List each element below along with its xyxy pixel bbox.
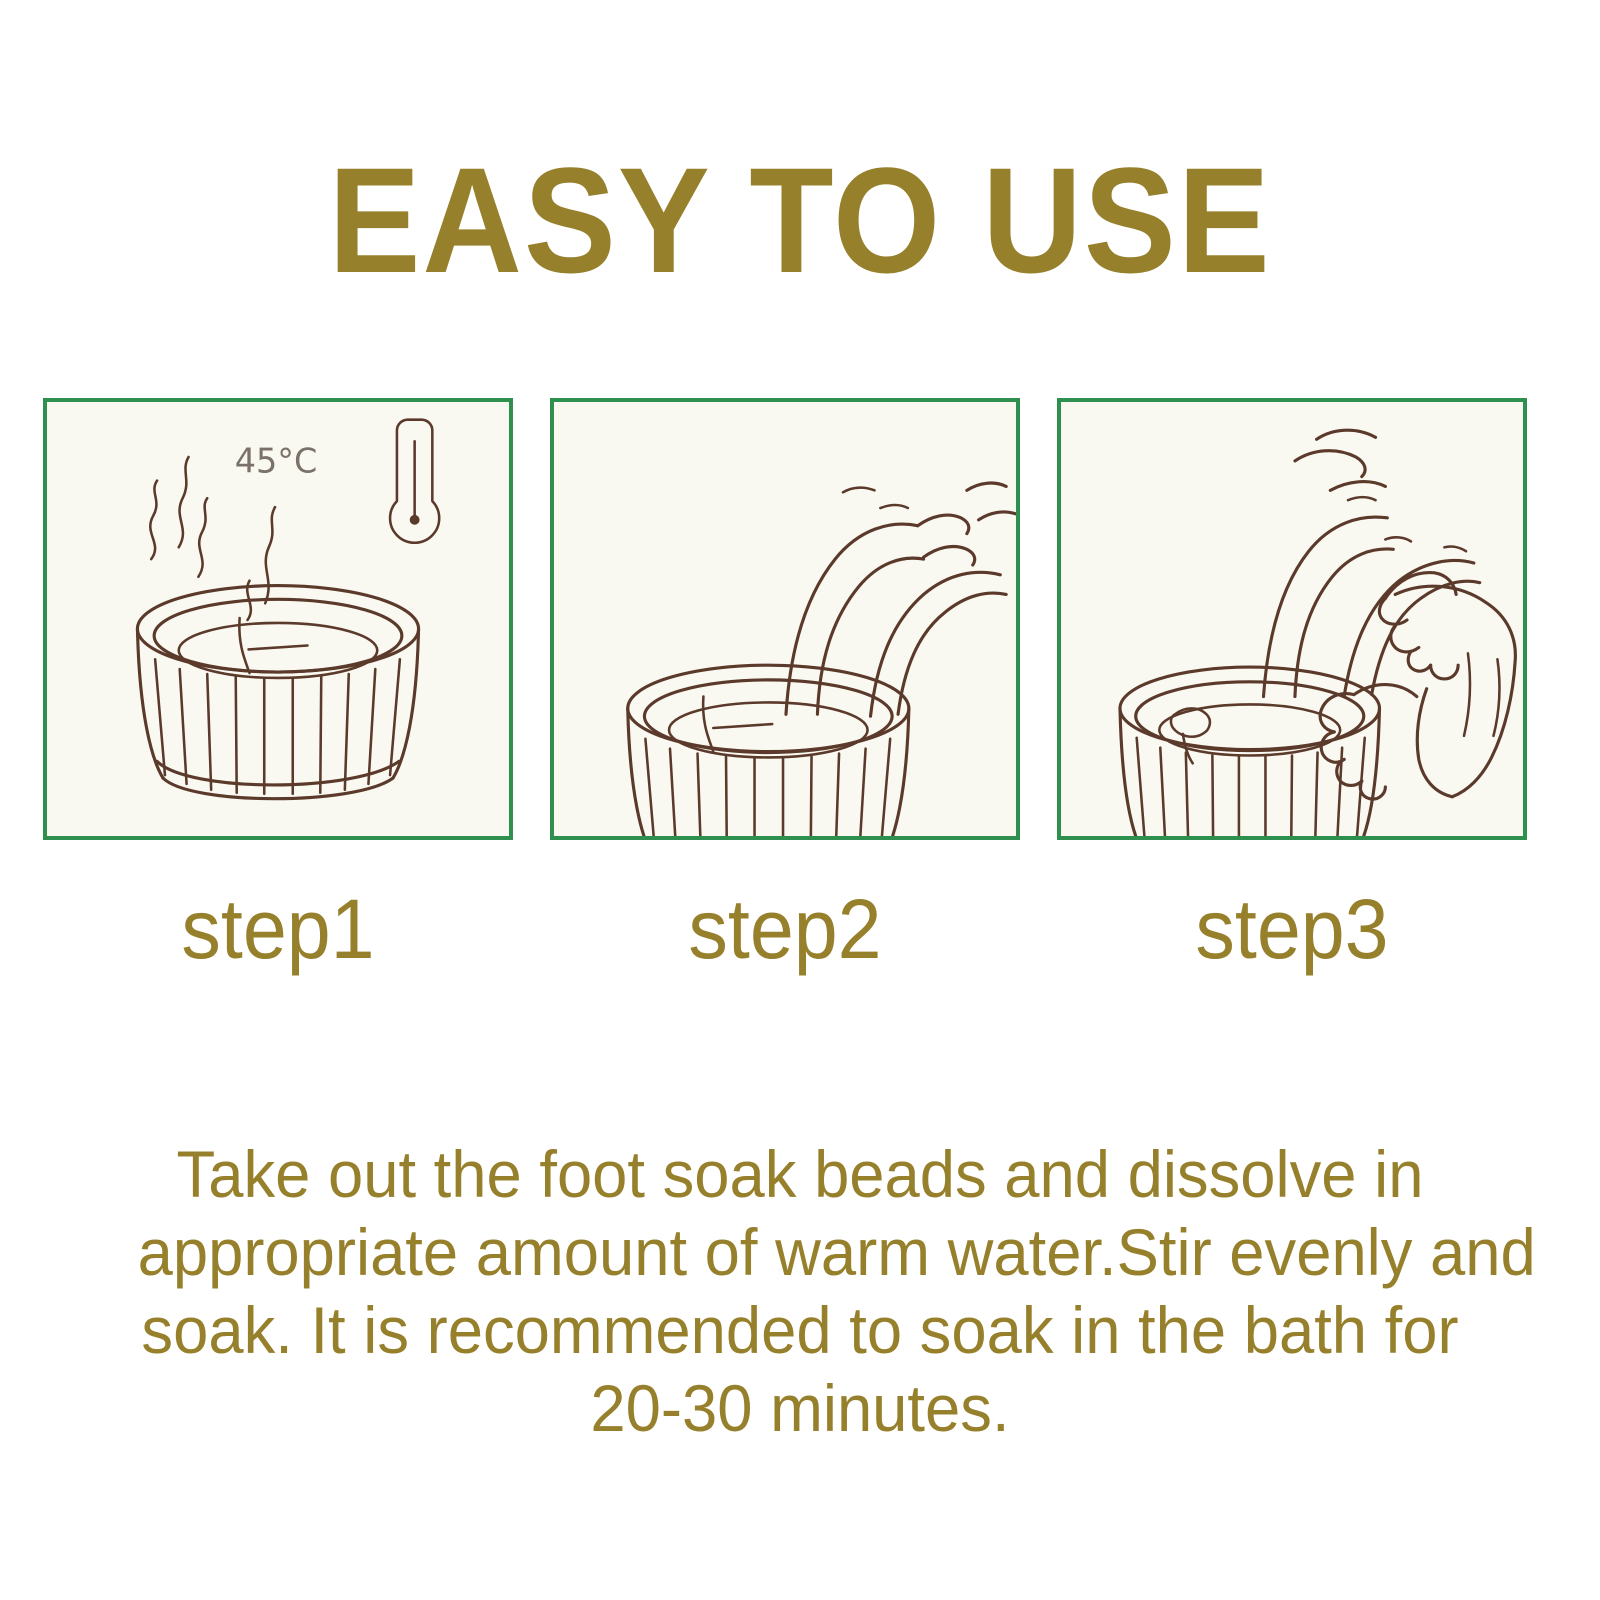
- legs-icon: [786, 483, 1016, 716]
- instructions-line-3: soak. It is recommended to soak in the b…: [138, 1291, 1463, 1369]
- step-panel-2: [550, 398, 1020, 840]
- steps-panel-row: 45°C: [43, 398, 1527, 840]
- page-title: EASY TO USE: [64, 140, 1536, 300]
- instructions-line-2: appropriate amount of warm water.Stir ev…: [138, 1213, 1463, 1291]
- legs-icon: [1263, 430, 1479, 696]
- instructions-line-4: 20-30 minutes.: [138, 1369, 1463, 1447]
- wooden-tub-icon: [628, 665, 909, 836]
- step-panel-1: 45°C: [43, 398, 513, 840]
- step-label-3: step3: [1071, 884, 1513, 974]
- step-label-1: step1: [57, 884, 499, 974]
- step-panel-3: [1057, 398, 1527, 840]
- step1-illustration: 45°C: [47, 402, 509, 836]
- wooden-tub-icon: [137, 586, 418, 799]
- hands-with-towel-icon: [1320, 573, 1515, 799]
- instructions-text: Take out the foot soak beads and dissolv…: [110, 1135, 1490, 1447]
- step-label-2: step2: [564, 884, 1006, 974]
- thermometer-icon: [390, 420, 439, 543]
- instructions-line-1: Take out the foot soak beads and dissolv…: [138, 1135, 1463, 1213]
- step3-illustration: [1061, 402, 1523, 836]
- step2-illustration: [554, 402, 1016, 836]
- steam-icon: [150, 457, 275, 620]
- step-label-row: step1 step2 step3: [43, 884, 1527, 974]
- temperature-label: 45°C: [235, 442, 318, 481]
